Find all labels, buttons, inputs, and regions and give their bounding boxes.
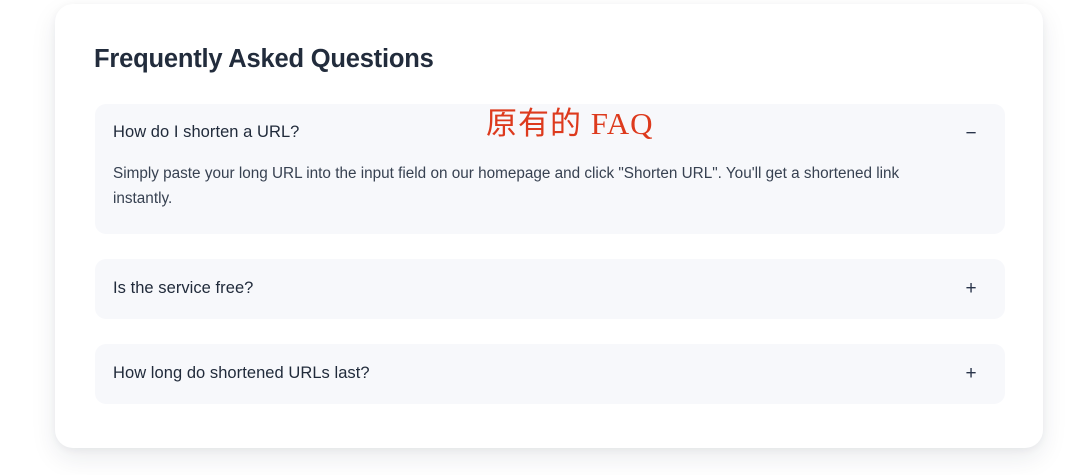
faq-card: Frequently Asked Questions How do I shor… xyxy=(55,4,1043,448)
plus-icon[interactable]: + xyxy=(963,279,979,298)
faq-item-3[interactable]: How long do shortened URLs last? + xyxy=(95,344,1005,404)
faq-accordion-list: How do I shorten a URL? − Simply paste y… xyxy=(95,104,1005,404)
faq-question-label-3: How long do shortened URLs last? xyxy=(113,363,370,384)
plus-icon[interactable]: + xyxy=(963,364,979,383)
faq-item-2[interactable]: Is the service free? + xyxy=(95,259,1005,319)
page-root: Frequently Asked Questions How do I shor… xyxy=(0,0,1070,475)
faq-question-label-1: How do I shorten a URL? xyxy=(113,122,299,143)
minus-icon[interactable]: − xyxy=(963,124,979,143)
faq-question-row-3[interactable]: How long do shortened URLs last? + xyxy=(95,344,1005,404)
faq-question-row-2[interactable]: Is the service free? + xyxy=(95,259,1005,319)
faq-question-label-2: Is the service free? xyxy=(113,278,253,299)
faq-answer-text-1: Simply paste your long URL into the inpu… xyxy=(113,162,956,212)
page-title: Frequently Asked Questions xyxy=(94,44,434,75)
faq-question-row-1[interactable]: How do I shorten a URL? − xyxy=(95,104,1005,162)
faq-answer-wrapper-1: Simply paste your long URL into the inpu… xyxy=(95,162,1005,234)
faq-item-1[interactable]: How do I shorten a URL? − Simply paste y… xyxy=(95,104,1005,234)
